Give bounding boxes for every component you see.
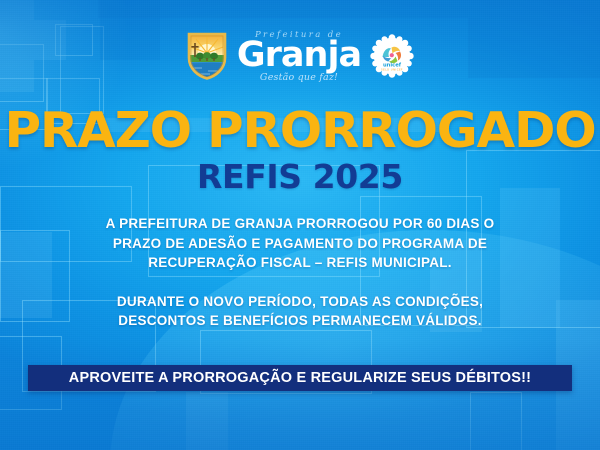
promotional-poster: Prefeitura de Granja Gestão que faz! — [0, 0, 600, 450]
granja-coat-of-arms-icon — [186, 31, 228, 81]
svg-text:SELO UNICEF: SELO UNICEF — [381, 67, 403, 71]
brand-wordmark: Prefeitura de Granja Gestão que faz! — [237, 31, 361, 83]
body-line: RECUPERAÇÃO FISCAL – REFIS MUNICIPAL. — [0, 253, 600, 273]
cta-label: APROVEITE A PRORROGAÇÃO E REGULARIZE SEU… — [69, 370, 531, 386]
cta-banner: APROVEITE A PRORROGAÇÃO E REGULARIZE SEU… — [28, 365, 572, 391]
brand-prefix-label: Prefeitura de — [255, 31, 343, 40]
body-line: A PREFEITURA DE GRANJA PRORROGOU POR 60 … — [0, 214, 600, 234]
brand-name: Granja — [237, 39, 361, 72]
page-subtitle: REFIS 2025 — [0, 160, 600, 193]
body-line: DESCONTOS E BENEFÍCIOS PERMANECEM VÁLIDO… — [0, 311, 600, 331]
page-title: PRAZO PRORROGADO — [0, 106, 600, 155]
selo-unicef-icon: unicef SELO UNICEF — [370, 34, 414, 78]
brand-tagline: Gestão que faz! — [260, 73, 338, 83]
body-line: DURANTE O NOVO PERÍODO, TODAS AS CONDIÇÕ… — [0, 292, 600, 312]
header-logos: Prefeitura de Granja Gestão que faz! — [0, 26, 600, 86]
body-copy: A PREFEITURA DE GRANJA PRORROGOU POR 60 … — [0, 214, 600, 331]
body-line: PRAZO DE ADESÃO E PAGAMENTO DO PROGRAMA … — [0, 234, 600, 254]
